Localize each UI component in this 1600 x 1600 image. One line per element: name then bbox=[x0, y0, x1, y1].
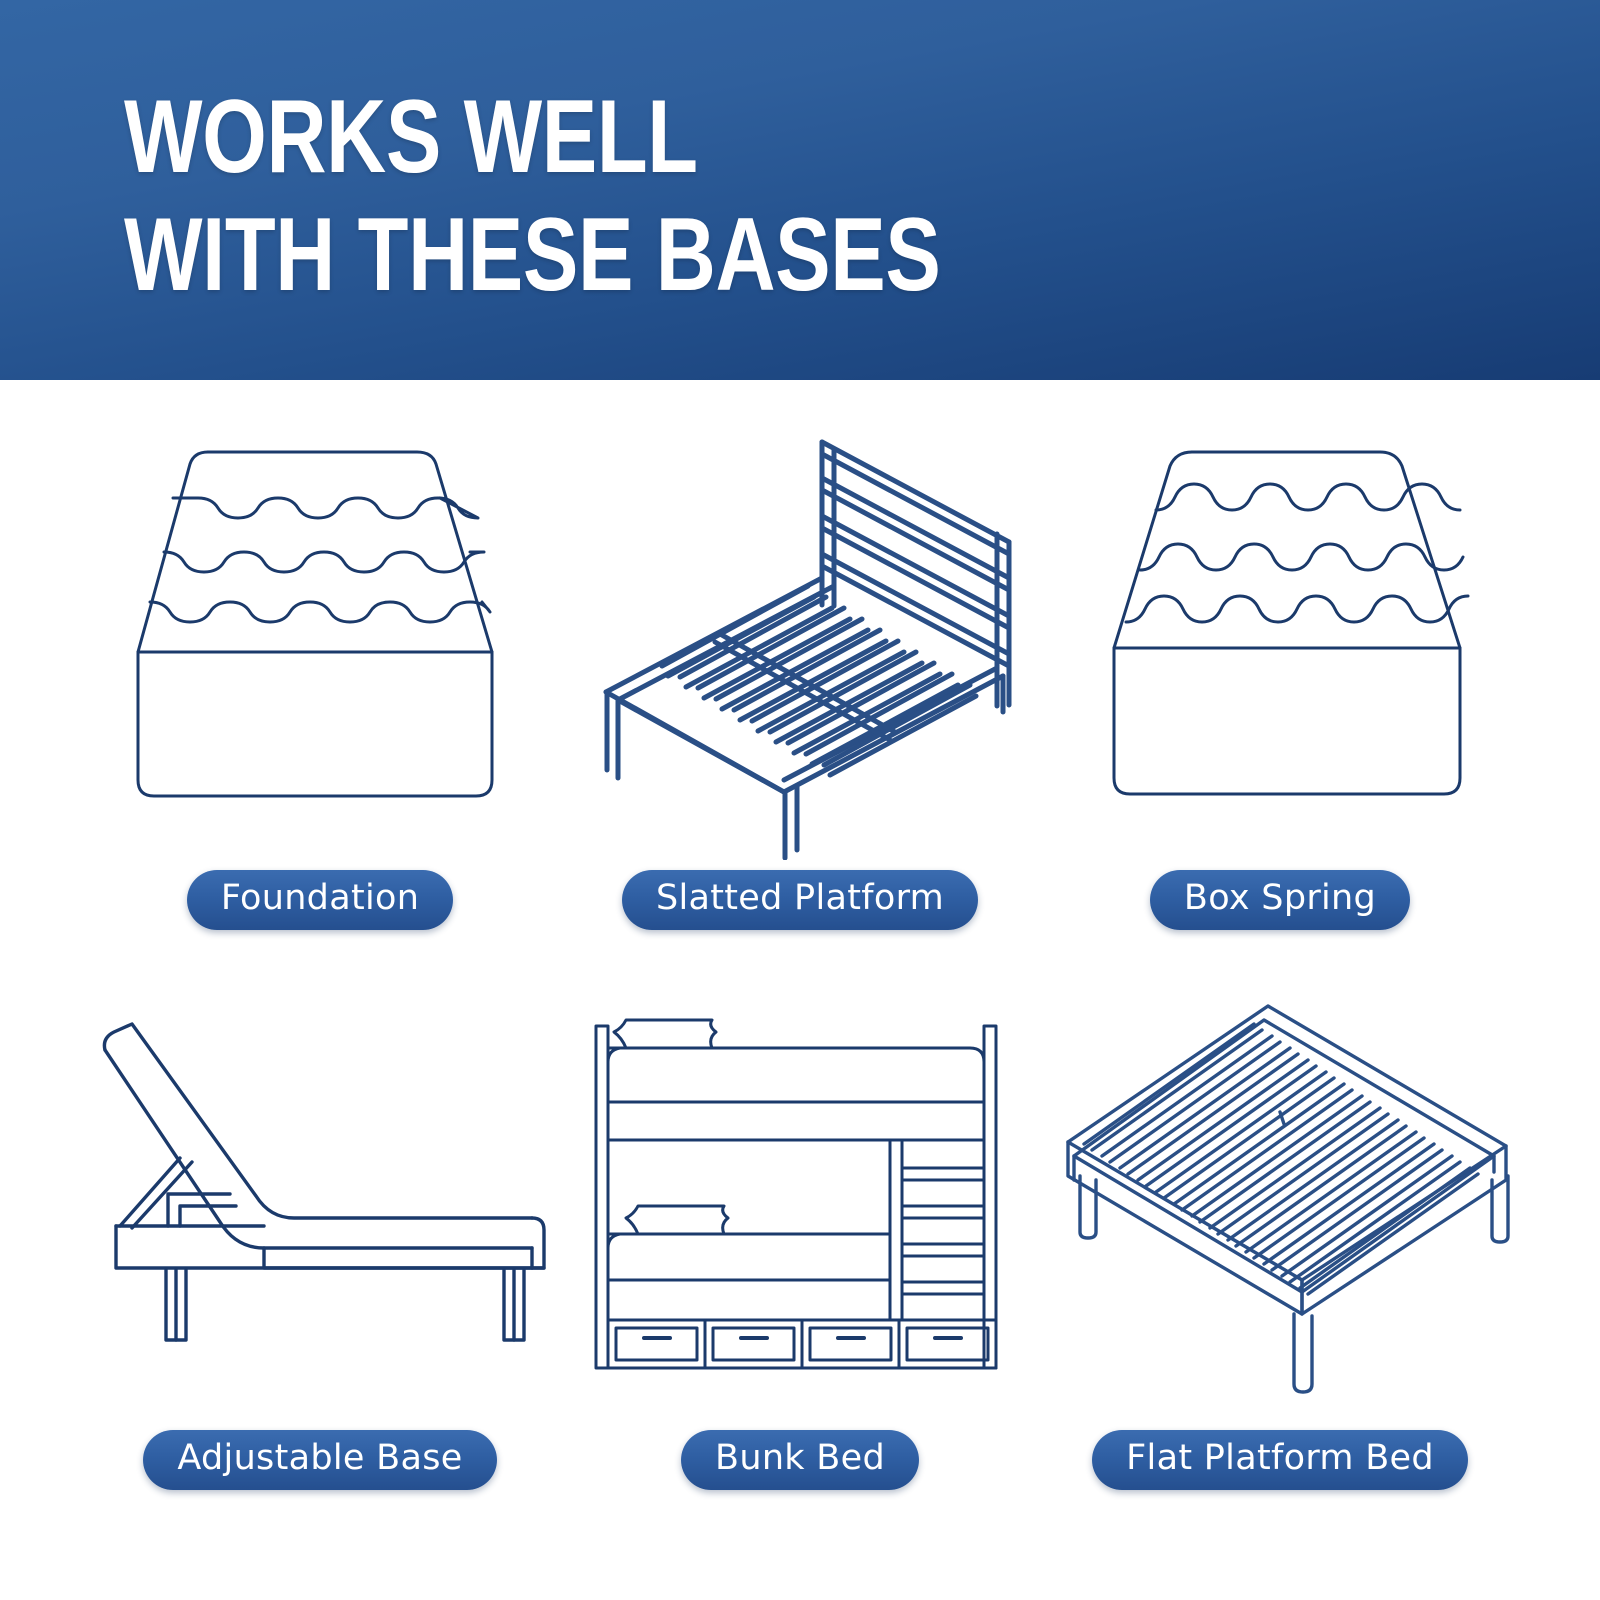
bases-grid: Foundation bbox=[0, 380, 1600, 1600]
adjustable-base-icon bbox=[80, 980, 560, 1420]
page-title-line-1: WORKS WELL bbox=[124, 79, 698, 195]
bunk-bed-pill-wrap: Bunk Bed bbox=[560, 1430, 1040, 1490]
slatted-platform-bed-icon bbox=[560, 420, 1040, 860]
slatted-platform-pill-wrap: Slatted Platform bbox=[560, 870, 1040, 930]
base-card-flat-platform-bed[interactable]: Flat Platform Bed bbox=[1040, 980, 1520, 1540]
page-title: WORKS WELLWITH THESE BASES bbox=[124, 78, 940, 314]
base-label-bunk-bed[interactable]: Bunk Bed bbox=[681, 1430, 919, 1490]
flat-platform-bed-icon bbox=[1040, 980, 1520, 1420]
base-card-foundation[interactable]: Foundation bbox=[80, 420, 560, 980]
page-title-line-2: WITH THESE BASES bbox=[124, 197, 940, 313]
base-card-slatted-platform[interactable]: Slatted Platform bbox=[560, 420, 1040, 980]
header-banner: WORKS WELLWITH THESE BASES bbox=[0, 0, 1600, 380]
base-label-flat-platform-bed[interactable]: Flat Platform Bed bbox=[1092, 1430, 1468, 1490]
base-label-foundation[interactable]: Foundation bbox=[187, 870, 453, 930]
base-label-slatted-platform[interactable]: Slatted Platform bbox=[622, 870, 978, 930]
foundation-pill-wrap: Foundation bbox=[80, 870, 560, 930]
base-label-adjustable-base[interactable]: Adjustable Base bbox=[143, 1430, 496, 1490]
base-card-bunk-bed[interactable]: Bunk Bed bbox=[560, 980, 1040, 1540]
adjustable-base-pill-wrap: Adjustable Base bbox=[80, 1430, 560, 1490]
flat-platform-bed-pill-wrap: Flat Platform Bed bbox=[1040, 1430, 1520, 1490]
base-card-adjustable-base[interactable]: Adjustable Base bbox=[80, 980, 560, 1540]
box-spring-icon bbox=[1040, 420, 1520, 860]
foundation-mattress-icon bbox=[80, 420, 560, 860]
box-spring-pill-wrap: Box Spring bbox=[1040, 870, 1520, 930]
base-label-box-spring[interactable]: Box Spring bbox=[1150, 870, 1410, 930]
bunk-bed-icon bbox=[560, 980, 1040, 1420]
base-card-box-spring[interactable]: Box Spring bbox=[1040, 420, 1520, 980]
